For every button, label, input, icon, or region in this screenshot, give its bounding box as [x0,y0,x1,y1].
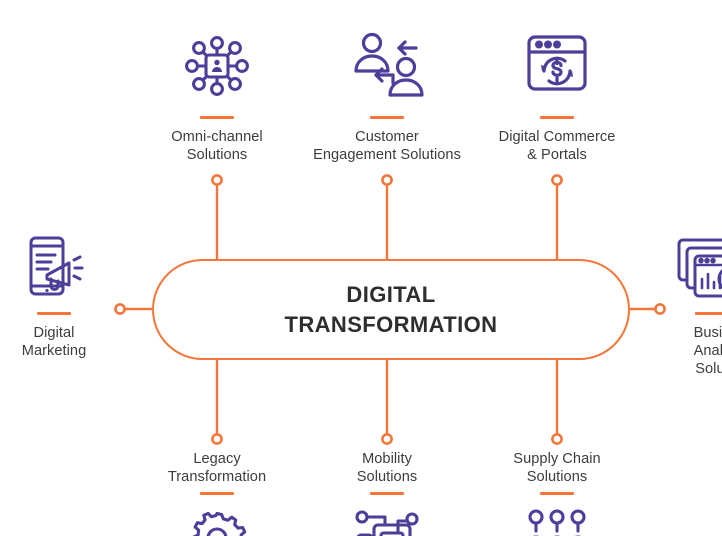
node-digital-marketing-label: Digital Marketing [0,324,149,360]
node-legacy-transformation-label: Legacy Transformation [122,450,312,486]
node-digital-commerce-label: Digital Commerce & Portals [462,128,652,164]
node-omni-channel-icon-wrap [122,22,312,110]
supply-nodes-icon [514,505,600,536]
dot-omni-channel [212,175,221,184]
dot-digital-commerce [552,175,561,184]
node-business-analytics-divider [695,312,722,315]
network-person-icon [176,27,258,105]
center-capsule: DIGITAL TRANSFORMATION [152,259,630,360]
node-omni-channel-label: Omni-channel Solutions [122,128,312,164]
node-mobility-divider [370,492,404,495]
node-supply-chain-icon-wrap [462,504,652,536]
gear-arrows-icon [174,505,260,536]
infographic-canvas: DIGITAL TRANSFORMATION [0,0,722,536]
dot-customer-engagement [382,175,391,184]
node-supply-chain-divider [540,492,574,495]
dashboard-chart-icon [673,232,722,302]
two-people-exchange-icon [344,27,430,105]
node-customer-engagement-icon-wrap [292,22,482,110]
dot-supply-chain [552,434,561,443]
dot-mobility [382,434,391,443]
node-digital-marketing-icon-wrap [0,228,149,306]
node-digital-marketing-divider [37,312,71,315]
node-legacy-transformation-icon-wrap [122,504,312,536]
node-legacy-transformation[interactable]: Legacy Transformation [122,450,312,536]
node-digital-commerce-divider [540,116,574,119]
node-supply-chain-label: Supply Chain Solutions [462,450,652,486]
node-digital-commerce[interactable]: Digital Commerce & Portals [462,22,652,164]
node-mobility-label: Mobility Solutions [292,450,482,486]
node-digital-marketing[interactable]: Digital Marketing [0,228,149,360]
node-business-analytics[interactable]: Busin Analy Solut [617,228,722,378]
node-customer-engagement-divider [370,116,404,119]
node-omni-channel-divider [200,116,234,119]
node-legacy-transformation-divider [200,492,234,495]
node-business-analytics-icon-wrap [617,228,722,306]
center-title: DIGITAL TRANSFORMATION [285,280,498,340]
devices-sync-icon [344,505,430,536]
phone-megaphone-icon [17,232,91,302]
node-omni-channel[interactable]: Omni-channel Solutions [122,22,312,164]
dot-legacy-transformation [212,434,221,443]
browser-dollar-refresh-icon [516,27,598,105]
node-business-analytics-label: Busin Analy Solut [617,324,722,378]
node-customer-engagement[interactable]: Customer Engagement Solutions [292,22,482,164]
node-mobility[interactable]: Mobility Solutions [292,450,482,536]
node-supply-chain[interactable]: Supply Chain Solutions [462,450,652,536]
node-customer-engagement-label: Customer Engagement Solutions [292,128,482,164]
node-mobility-icon-wrap [292,504,482,536]
node-digital-commerce-icon-wrap [462,22,652,110]
